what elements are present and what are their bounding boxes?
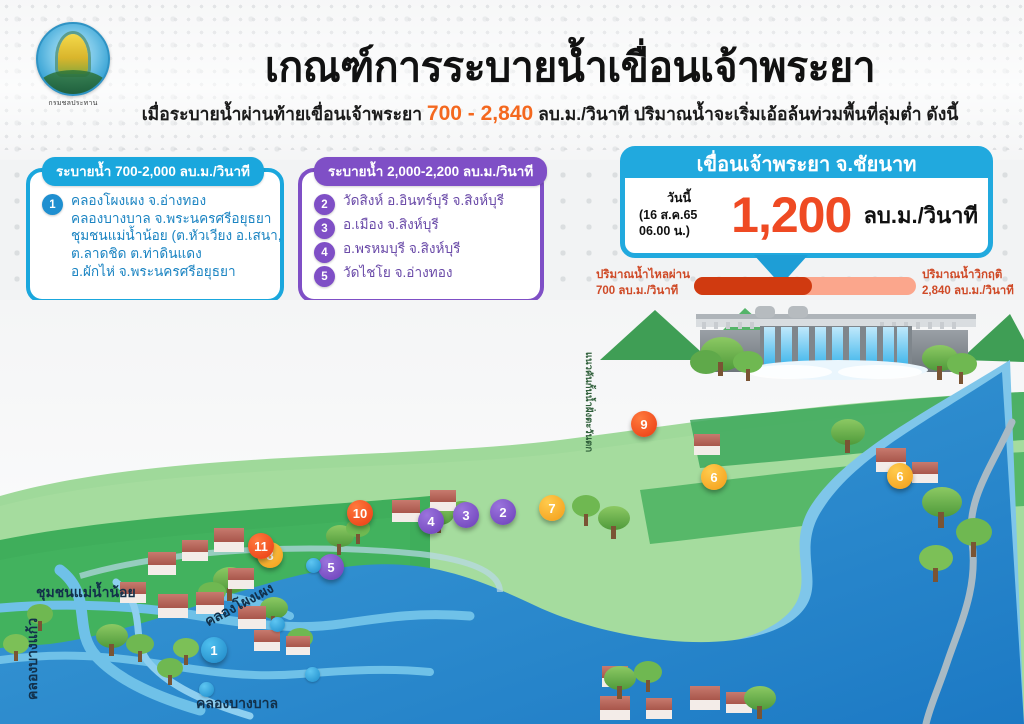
legend-card-body: 1 คลองโผงเผง จ.อ่างทอง คลองบางบาล จ.พระน…	[30, 172, 280, 293]
discharge-unit: ลบ.ม./วินาที	[863, 198, 978, 233]
legend-row: 3 อ.เมือง จ.สิงห์บุรี	[314, 216, 530, 239]
page-subtitle: เมื่อระบายน้ำผ่านท้ายเขื่อนเจ้าพระยา 700…	[80, 100, 1020, 128]
legend-line: วัดไชโย จ.อ่างทอง	[343, 264, 453, 282]
infographic-canvas: กรมชลประทาน เกณฑ์การระบายน้ำเขื่อนเจ้าพร…	[0, 0, 1024, 724]
gauge-right-label: ปริมาณน้ำวิกฤติ 2,840 ลบ.ม./วินาที	[922, 268, 1014, 299]
legend-row-text: อ.พรหมบุรี จ.สิงห์บุรี	[343, 240, 460, 258]
legend-pin-2: 2	[314, 194, 335, 215]
legend-card-title: ระบายน้ำ 2,000-2,200 ลบ.ม./วินาที	[314, 157, 547, 186]
legend-line: ต.ลาดชิด ต.ท่าดินแดง	[71, 245, 282, 263]
legend-line: วัดสิงห์ อ.อินทร์บุรี จ.สิงห์บุรี	[343, 192, 504, 210]
map-label-river-vertical: แนวคันกั้นน้ำฝั่งตะวันตก	[581, 352, 596, 452]
today-date: (16 ส.ค.65	[639, 207, 719, 224]
legend-line: ชุมชนแม่น้ำน้อย (ต.หัวเวียง อ.เสนา,	[71, 227, 282, 245]
legend-line: คลองบางบาล จ.พระนครศรีอยุธยา	[71, 210, 282, 228]
legend-card-blue: ระบายน้ำ 700-2,000 ลบ.ม./วินาที 1 คลองโผ…	[26, 168, 284, 303]
legend-line: อ.ผักไห่ จ.พระนครศรีอยุธยา	[71, 263, 282, 281]
map-dot-marker-1[interactable]	[305, 667, 320, 682]
legend-row: 2 วัดสิงห์ อ.อินทร์บุรี จ.สิงห์บุรี	[314, 192, 530, 215]
map-label-left-vertical: คลองบางแก้ว	[22, 618, 44, 700]
gauge-right-line2: 2,840 ลบ.ม./วินาที	[922, 284, 1014, 300]
legend-row: 1 คลองโผงเผง จ.อ่างทอง คลองบางบาล จ.พระน…	[42, 192, 270, 280]
dam-panel-title: เขื่อนเจ้าพระยา จ.ชัยนาท	[624, 150, 989, 178]
legend-row-text: วัดสิงห์ อ.อินทร์บุรี จ.สิงห์บุรี	[343, 192, 504, 210]
map-marker-3[interactable]: 3	[453, 502, 479, 528]
map-marker-6[interactable]: 6	[701, 464, 727, 490]
legend-card-title: ระบายน้ำ 700-2,000 ลบ.ม./วินาที	[42, 157, 264, 186]
dam-readout-panel: เขื่อนเจ้าพระยา จ.ชัยนาท วันนี้ (16 ส.ค.…	[620, 146, 993, 258]
legend-line: อ.เมือง จ.สิงห์บุรี	[343, 216, 439, 234]
legend-pin-5: 5	[314, 266, 335, 287]
legend-card-body: 2 วัดสิงห์ อ.อินทร์บุรี จ.สิงห์บุรี 3 อ.…	[302, 172, 540, 300]
subtitle-suffix: ลบ.ม./วินาที ปริมาณน้ำจะเริ่มเอ้อล้นท่วม…	[538, 104, 958, 124]
seal-icon	[36, 22, 110, 96]
legend-pin-1: 1	[42, 194, 63, 215]
today-label: วันนี้	[639, 190, 719, 207]
map-dot-marker-4[interactable]	[306, 558, 321, 573]
gauge-left-label: ปริมาณน้ำไหลผ่าน 700 ลบ.ม./วินาที	[596, 268, 690, 299]
dam-panel-body: วันนี้ (16 ส.ค.65 06.00 น.) 1,200 ลบ.ม./…	[625, 178, 988, 252]
today-time: 06.00 น.)	[639, 223, 719, 240]
gauge-left-line2: 700 ลบ.ม./วินาที	[596, 284, 690, 300]
legend-row-text: คลองโผงเผง จ.อ่างทอง คลองบางบาล จ.พระนคร…	[71, 192, 282, 280]
map-marker-9[interactable]: 9	[631, 411, 657, 437]
subtitle-prefix: เมื่อระบายน้ำผ่านท้ายเขื่อนเจ้าพระยา	[142, 104, 422, 124]
gauge-left-line1: ปริมาณน้ำไหลผ่าน	[596, 268, 690, 284]
page-title: เกณฑ์การระบายน้ำเขื่อนเจ้าพระยา	[130, 46, 1010, 89]
map-label-chumchon-mae-nam-noi: ชุมชนแม่น้ำน้อย	[36, 582, 136, 604]
legend-pin-3: 3	[314, 218, 335, 239]
legend-pin-4: 4	[314, 242, 335, 263]
legend-line: อ.พรหมบุรี จ.สิงห์บุรี	[343, 240, 460, 258]
gauge-right-line1: ปริมาณน้ำวิกฤติ	[922, 268, 1014, 284]
discharge-gauge-fill	[694, 277, 812, 295]
map-marker-1[interactable]: 1	[201, 637, 227, 663]
map-marker-6[interactable]: 6	[887, 463, 913, 489]
legend-row-text: วัดไชโย จ.อ่างทอง	[343, 264, 453, 282]
map-dot-marker-3[interactable]	[270, 617, 285, 632]
map-marker-7[interactable]: 7	[539, 495, 565, 521]
legend-row-text: อ.เมือง จ.สิงห์บุรี	[343, 216, 439, 234]
legend-card-purple: ระบายน้ำ 2,000-2,200 ลบ.ม./วินาที 2 วัดส…	[298, 168, 544, 303]
reading-timestamp: วันนี้ (16 ส.ค.65 06.00 น.)	[639, 190, 719, 240]
map-label-khlong-bang-ban: คลองบางบาล	[196, 693, 278, 715]
legend-row: 5 วัดไชโย จ.อ่างทอง	[314, 264, 530, 287]
discharge-value: 1,200	[719, 190, 863, 240]
map-marker-11[interactable]: 11	[248, 533, 274, 559]
map-marker-5[interactable]: 5	[318, 554, 344, 580]
map-marker-10[interactable]: 10	[347, 500, 373, 526]
legend-line: คลองโผงเผง จ.อ่างทอง	[71, 192, 282, 210]
discharge-gauge-track	[694, 277, 916, 295]
map-marker-2[interactable]: 2	[490, 499, 516, 525]
map-marker-4[interactable]: 4	[418, 508, 444, 534]
map-illustration: 12345667891011	[0, 300, 1024, 724]
subtitle-range-value: 700 - 2,840	[427, 102, 533, 125]
legend-row: 4 อ.พรหมบุรี จ.สิงห์บุรี	[314, 240, 530, 263]
